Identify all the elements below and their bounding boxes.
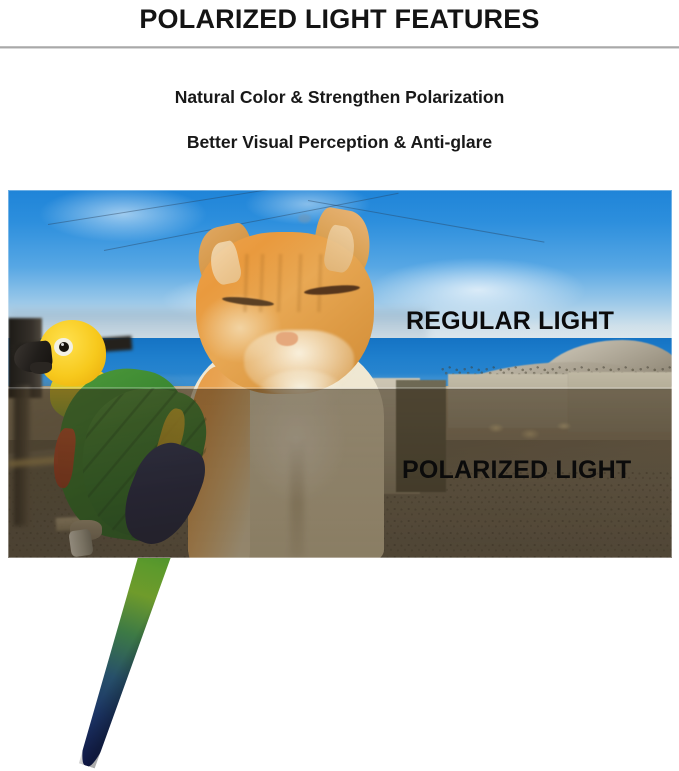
label-polarized-light: POLARIZED LIGHT bbox=[402, 456, 631, 485]
label-regular-light: REGULAR LIGHT bbox=[406, 307, 614, 336]
parrot-leg-band bbox=[68, 529, 93, 558]
title-divider bbox=[0, 46, 679, 49]
cat-chin bbox=[258, 370, 344, 414]
pebbles bbox=[478, 418, 598, 444]
feature-line-visual-perception: Better Visual Perception & Anti-glare bbox=[0, 131, 679, 153]
feature-line-natural-color: Natural Color & Strengthen Polarization bbox=[0, 86, 679, 108]
comparison-photo: REGULAR LIGHT POLARIZED LIGHT bbox=[8, 190, 672, 558]
vertical-post bbox=[14, 386, 30, 526]
cat-nose bbox=[276, 332, 298, 346]
wire-insulator bbox=[298, 214, 311, 223]
photo-clip-region: REGULAR LIGHT POLARIZED LIGHT bbox=[8, 190, 672, 558]
page-title: POLARIZED LIGHT FEATURES bbox=[0, 2, 679, 36]
parrot-eye-glint bbox=[61, 343, 64, 346]
